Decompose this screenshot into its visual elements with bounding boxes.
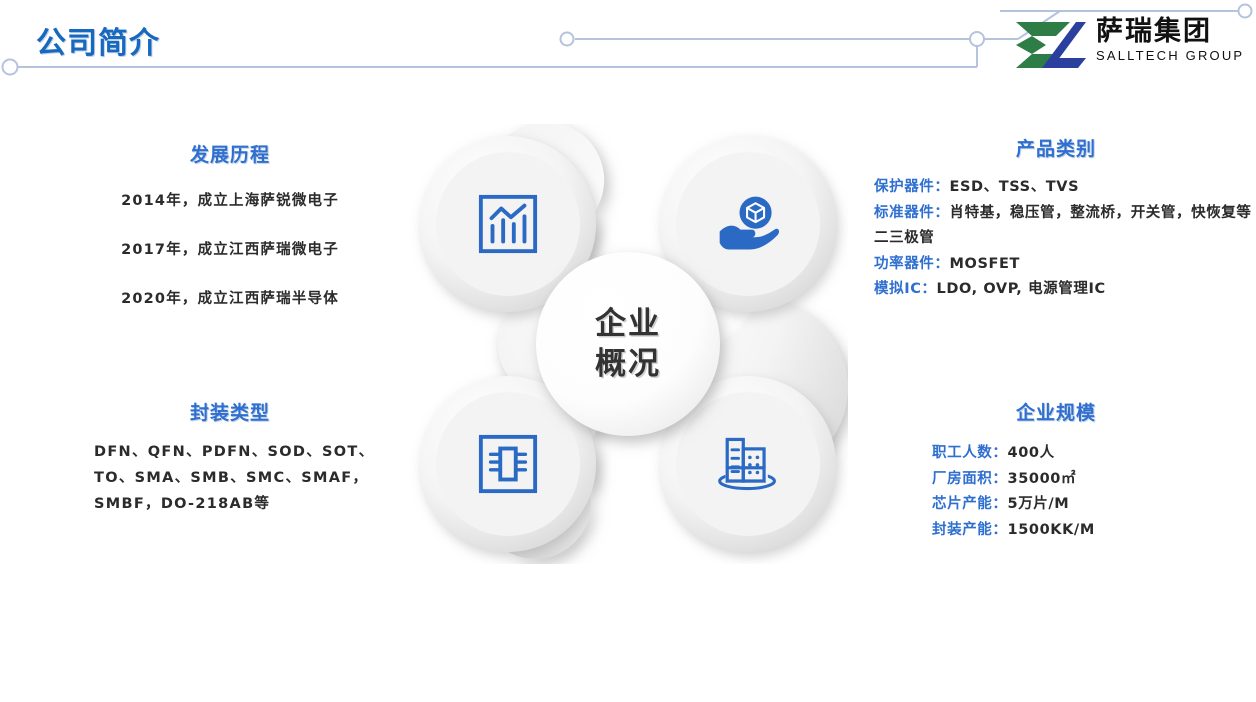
product-row: 模拟IC：LDO, OVP, 电源管理IC [874,277,1252,303]
scale-row: 封装产能：1500KK/M [932,518,1252,544]
scale-key: 厂房面积： [932,471,1008,487]
logo-name-cn: 萨瑞集团 [1096,16,1246,48]
logo-text-block: 萨瑞集团 SALLTECH GROUP [1096,16,1246,72]
center-label-line1: 企业 [595,304,661,344]
company-logo: 萨瑞集团 SALLTECH GROUP [1008,14,1248,76]
salltech-logo-mark [1008,18,1088,72]
product-key: 模拟IC： [874,281,937,297]
packages-body: DFN、QFN、PDFN、SOD、SOT、TO、SMA、SMB、SMC、SMAF… [60,439,400,517]
product-row: 保护器件：ESD、TSS、TVS [874,175,1252,201]
scale-row: 职工人数：400人 [932,441,1252,467]
logo-name-en: SALLTECH GROUP [1096,48,1246,64]
panel-development-history: 发展历程 2014年，成立上海萨锐微电子 2017年，成立江西萨瑞微电子 202… [60,140,400,336]
product-value: ESD、TSS、TVS [950,179,1080,195]
scale-key: 封装产能： [932,522,1008,538]
diagram-center-label-node: 企业 概况 [536,252,720,436]
package-types-text: DFN、QFN、PDFN、SOD、SOT、TO、SMA、SMB、SMC、SMAF… [94,439,400,517]
product-key: 标准器件： [874,205,950,221]
panel-package-types: 封装类型 DFN、QFN、PDFN、SOD、SOT、TO、SMA、SMB、SMC… [60,398,400,517]
page-header: 公司简介 萨瑞集团 SALLTECH GROUP [0,0,1256,92]
history-item: 2017年，成立江西萨瑞微电子 [60,238,400,259]
scale-value: 5万片/M [1008,496,1070,512]
history-list: 2014年，成立上海萨锐微电子 2017年，成立江西萨瑞微电子 2020年，成立… [60,189,400,308]
panel-title-scale: 企业规模 [860,398,1252,425]
product-value: MOSFET [950,256,1021,272]
scale-key: 职工人数： [932,445,1008,461]
panel-title-history: 发展历程 [60,140,400,167]
product-key: 保护器件： [874,179,950,195]
scale-row: 芯片产能：5万片/M [932,492,1252,518]
panel-product-categories: 产品类别 保护器件：ESD、TSS、TVS 标准器件：肖特基，稳压管，整流桥，开… [860,134,1252,303]
product-row: 功率器件：MOSFET [874,252,1252,278]
product-row: 标准器件：肖特基，稳压管，整流桥，开关管，快恢复等二三极管 [874,201,1252,252]
panel-title-packages: 封装类型 [60,398,400,425]
products-list: 保护器件：ESD、TSS、TVS 标准器件：肖特基，稳压管，整流桥，开关管，快恢… [860,175,1252,303]
scale-row: 厂房面积：35000㎡ [932,467,1252,493]
product-key: 功率器件： [874,256,950,272]
scale-value: 35000㎡ [1008,471,1077,487]
history-item: 2020年，成立江西萨瑞半导体 [60,287,400,308]
product-value: LDO, OVP, 电源管理IC [937,281,1106,297]
panel-company-scale: 企业规模 职工人数：400人 厂房面积：35000㎡ 芯片产能：5万片/M 封装… [860,398,1252,543]
panel-title-products: 产品类别 [860,134,1252,161]
center-label-line2: 概况 [595,344,661,384]
company-overview-diagram: 企业 概况 [408,124,848,564]
history-item: 2014年，成立上海萨锐微电子 [60,189,400,210]
diagram-center-label: 企业 概况 [595,304,661,384]
page-title: 公司简介 [36,18,160,62]
scale-value: 1500KK/M [1008,522,1095,538]
scale-value: 400人 [1008,445,1055,461]
scale-key: 芯片产能： [932,496,1008,512]
scale-list: 职工人数：400人 厂房面积：35000㎡ 芯片产能：5万片/M 封装产能：15… [860,441,1252,543]
